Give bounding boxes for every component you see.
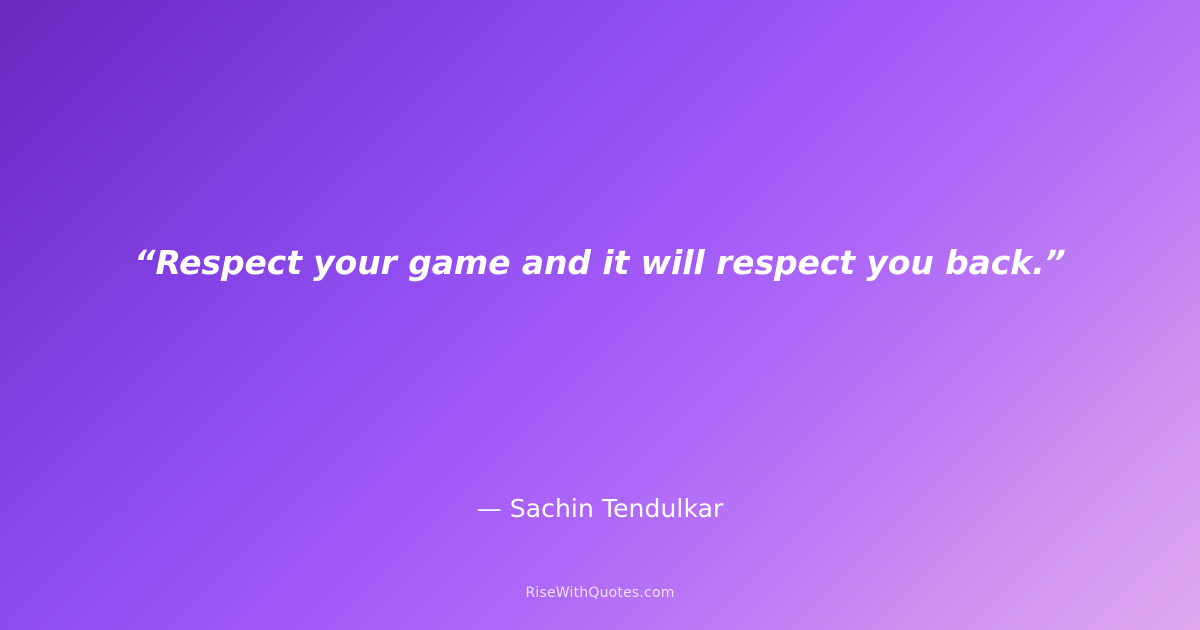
site-watermark: RiseWithQuotes.com (0, 583, 1200, 603)
quote-attribution: — Sachin Tendulkar (0, 492, 1200, 526)
quote-text: “Respect your game and it will respect y… (0, 241, 1200, 285)
quote-card: “Respect your game and it will respect y… (0, 0, 1200, 630)
quote-content-block: “Respect your game and it will respect y… (0, 0, 1200, 630)
